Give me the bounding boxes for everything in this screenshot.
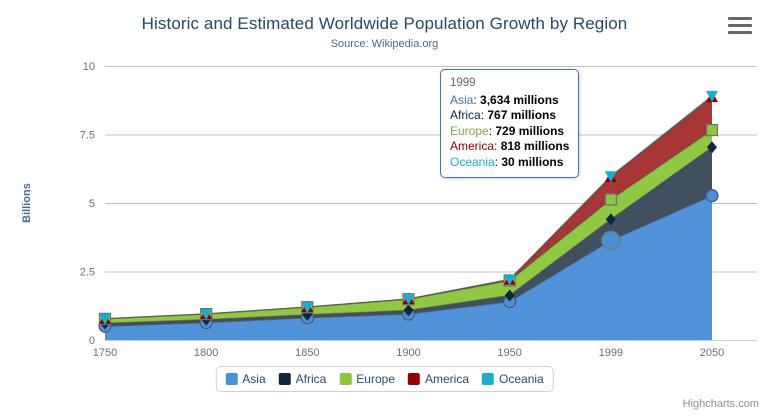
tooltip-series-value: 30 millions <box>501 155 563 169</box>
tooltip-series-value: 729 millions <box>495 124 564 138</box>
legend-item-africa[interactable]: Africa <box>279 372 327 386</box>
tooltip-row: Africa: 767 millions <box>450 108 569 124</box>
y-axis-tick-label: 5 <box>89 198 95 210</box>
x-axis-tick-label: 2050 <box>700 347 724 359</box>
chart-tooltip: 1999 Asia: 3,634 millionsAfrica: 767 mil… <box>440 69 579 178</box>
x-axis-tick-label: 1850 <box>295 347 319 359</box>
legend-item-label: Oceania <box>499 372 544 386</box>
x-axis-tick-label: 1900 <box>396 347 420 359</box>
x-axis-tick-label: 1800 <box>194 347 218 359</box>
x-axis-tick-label: 1950 <box>497 347 521 359</box>
y-axis-tick-label: 0 <box>89 335 95 347</box>
legend-item-america[interactable]: America <box>408 372 469 386</box>
x-axis-tick-label: 1999 <box>599 347 623 359</box>
legend-item-oceania[interactable]: Oceania <box>482 372 544 386</box>
legend-item-europe[interactable]: Europe <box>339 372 395 386</box>
tooltip-header: 1999 <box>450 76 569 93</box>
legend-item-label: Europe <box>356 372 395 386</box>
tooltip-series-value: 818 millions <box>501 139 570 153</box>
legend-swatch-icon <box>339 373 351 385</box>
x-axis-tick-label: 1750 <box>93 347 117 359</box>
legend-item-label: America <box>425 372 469 386</box>
tooltip-row: Asia: 3,634 millions <box>450 93 569 109</box>
data-point-asia[interactable] <box>706 190 718 202</box>
highcharts-container: Historic and Estimated Worldwide Populat… <box>0 0 769 416</box>
tooltip-row: America: 818 millions <box>450 139 569 155</box>
credits-label: Highcharts.com <box>683 398 759 410</box>
plot-area: 02.557.510Billions1750180018501900195019… <box>0 0 769 416</box>
tooltip-series-value: 3,634 millions <box>480 93 559 107</box>
y-axis-tick-label: 7.5 <box>80 130 95 142</box>
tooltip-rows: Asia: 3,634 millionsAfrica: 767 millions… <box>450 93 569 171</box>
chart-legend: AsiaAfricaEuropeAmericaOceania <box>215 366 553 392</box>
tooltip-series-name: Europe <box>450 124 489 138</box>
tooltip-series-name: Asia <box>450 93 473 107</box>
y-axis-title: Billions <box>21 183 33 223</box>
tooltip-row: Europe: 729 millions <box>450 124 569 140</box>
legend-swatch-icon <box>225 373 237 385</box>
legend-swatch-icon <box>279 373 291 385</box>
tooltip-series-name: Oceania <box>450 155 495 169</box>
legend-item-label: Africa <box>296 372 327 386</box>
y-axis-tick-label: 2.5 <box>80 267 95 279</box>
tooltip-series-value: 767 millions <box>487 108 556 122</box>
y-axis-tick-label: 10 <box>83 61 95 73</box>
legend-item-asia[interactable]: Asia <box>225 372 265 386</box>
tooltip-series-name: America <box>450 139 494 153</box>
data-point-europe[interactable] <box>707 125 718 136</box>
tooltip-row: Oceania: 30 millions <box>450 155 569 171</box>
data-point-asia-hover[interactable] <box>602 231 620 249</box>
legend-swatch-icon <box>482 373 494 385</box>
tooltip-series-name: Africa <box>450 108 481 122</box>
legend-swatch-icon <box>408 373 420 385</box>
legend-item-label: Asia <box>242 372 265 386</box>
data-point-europe[interactable] <box>605 194 616 205</box>
